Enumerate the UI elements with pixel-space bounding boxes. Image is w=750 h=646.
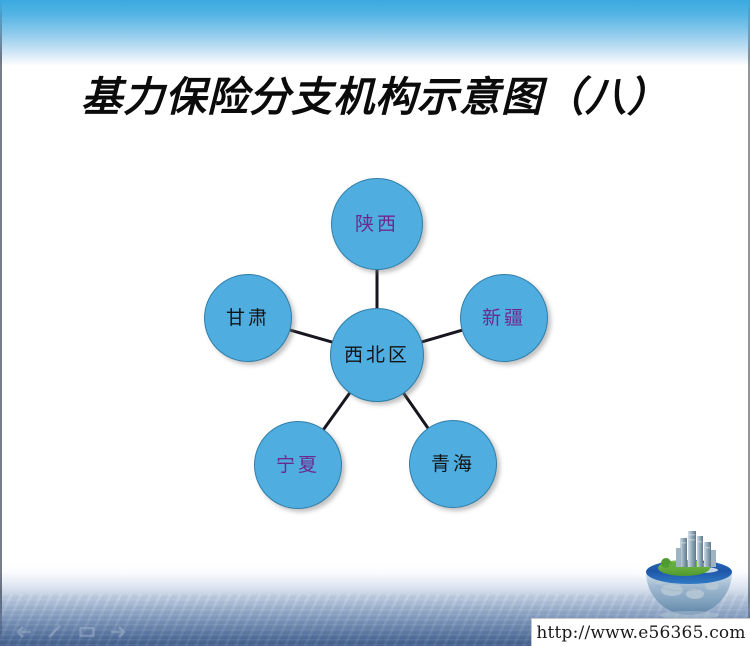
- diagram-node-label: 甘肃: [226, 309, 270, 328]
- website-url-plate[interactable]: http://www.e56365.com: [531, 618, 750, 646]
- slide-canvas: 基力保险分支机构示意图（八） 西北区 陕西 甘肃 新疆 宁夏 青海: [0, 0, 750, 646]
- diagram-node-label: 陕西: [355, 215, 399, 234]
- diagram-node-label: 西北区: [344, 346, 410, 365]
- org-diagram: 西北区 陕西 甘肃 新疆 宁夏 青海: [0, 0, 750, 646]
- forward-arrow-icon: [110, 624, 128, 640]
- diagram-node-ningxia[interactable]: 宁夏: [254, 421, 342, 509]
- diagram-node-label: 青海: [431, 455, 475, 474]
- diagram-node-shaanxi[interactable]: 陕西: [331, 178, 423, 270]
- website-url-text: http://www.e56365.com: [536, 623, 745, 643]
- diagram-node-label: 新疆: [482, 309, 526, 328]
- earth-city-globe-logo-icon: [640, 528, 738, 620]
- diagram-node-xinjiang[interactable]: 新疆: [460, 274, 548, 362]
- back-arrow-icon: [14, 624, 32, 640]
- diagram-node-qinghai[interactable]: 青海: [409, 420, 497, 508]
- rectangle-icon: [78, 624, 96, 640]
- diagram-node-gansu[interactable]: 甘肃: [204, 274, 292, 362]
- pen-icon: [46, 624, 64, 640]
- diagram-node-northwest-region[interactable]: 西北区: [330, 308, 424, 402]
- diagram-node-label: 宁夏: [276, 456, 320, 475]
- nav-watermark-group: [14, 620, 144, 644]
